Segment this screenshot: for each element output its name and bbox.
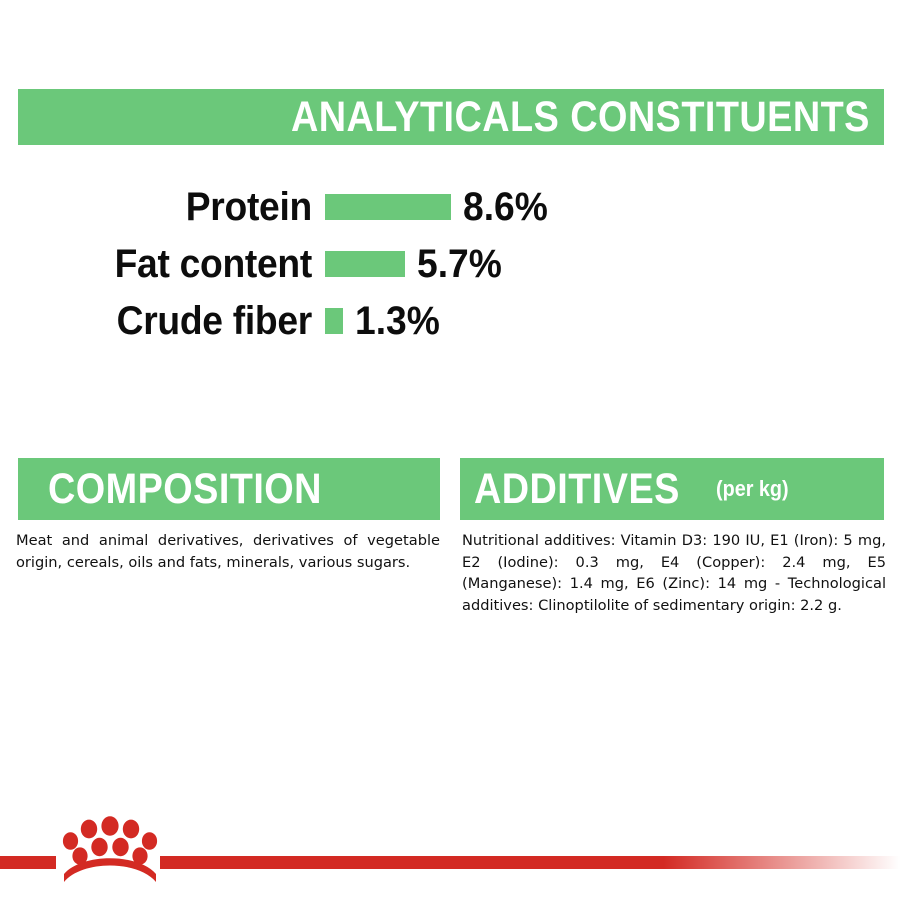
nutrient-row: Protein 8.6%	[0, 178, 900, 235]
nutrient-row: Fat content 5.7%	[0, 235, 900, 292]
nutrient-bar-crude-fiber	[325, 308, 343, 334]
composition-header-title: COMPOSITION	[48, 468, 322, 511]
footer-rule-left	[0, 856, 56, 869]
nutrient-label-fat-content: Fat content	[23, 244, 325, 284]
analyticals-header-title: ANALYTICALS CONSTITUENTS	[291, 96, 870, 139]
analyticals-header-band: ANALYTICALS CONSTITUENTS	[18, 89, 884, 145]
nutrient-label-crude-fiber: Crude fiber	[23, 301, 325, 341]
composition-header-band: COMPOSITION	[18, 458, 440, 520]
product-nutrition-panel: ANALYTICALS CONSTITUENTS Protein 8.6% Fa…	[0, 0, 900, 900]
nutrient-value-crude-fiber: 1.3%	[355, 301, 440, 341]
nutrient-bar-protein	[325, 194, 451, 220]
nutrient-label-protein: Protein	[23, 187, 325, 227]
analyticals-constituents-chart: Protein 8.6% Fat content 5.7% Crude fibe…	[0, 178, 900, 349]
additives-header-suffix: (per kg)	[716, 478, 789, 500]
nutrient-bar-fat-content	[325, 251, 405, 277]
composition-body-text: Meat and animal derivatives, derivatives…	[16, 530, 440, 573]
additives-body-text: Nutritional additives: Vitamin D3: 190 I…	[462, 530, 886, 616]
nutrient-value-protein: 8.6%	[463, 187, 548, 227]
footer-rule-right	[160, 856, 900, 869]
nutrient-row: Crude fiber 1.3%	[0, 292, 900, 349]
nutrient-value-fat-content: 5.7%	[417, 244, 502, 284]
additives-header-band: ADDITIVES (per kg)	[460, 458, 884, 520]
royal-canin-crown-icon	[58, 812, 162, 890]
additives-header-title: ADDITIVES	[474, 468, 680, 511]
